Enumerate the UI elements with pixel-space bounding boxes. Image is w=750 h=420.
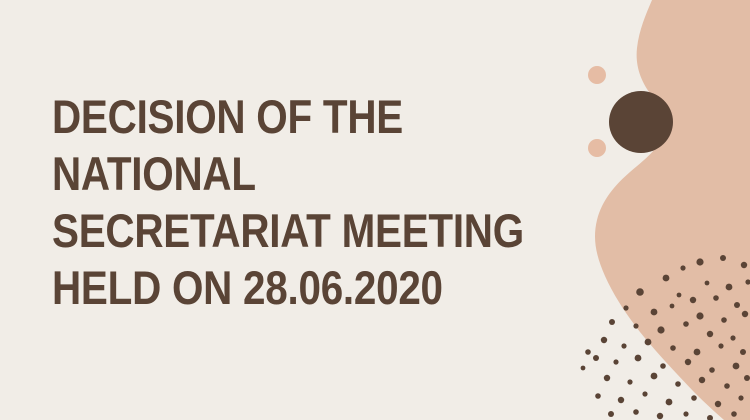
pattern-dot <box>613 359 618 364</box>
pattern-dot <box>609 319 615 325</box>
pattern-dot <box>593 355 599 361</box>
pattern-dot <box>733 363 740 370</box>
pattern-dot <box>691 395 697 401</box>
pattern-dot <box>636 288 644 296</box>
pattern-dot <box>731 411 737 417</box>
pattern-dot <box>608 411 614 417</box>
pattern-dot <box>740 349 746 355</box>
pattern-dot <box>683 321 689 327</box>
pattern-dot <box>635 355 642 362</box>
pattern-dot <box>585 349 591 355</box>
pattern-dot <box>724 383 730 389</box>
small-accent-circle-top <box>588 66 606 84</box>
headline-line-2: NATIONAL <box>52 145 534 202</box>
pattern-dot <box>595 393 601 399</box>
headline-line-1: DECISION OF THE <box>52 88 534 145</box>
pattern-dot <box>690 297 696 303</box>
headline-line-4: HELD ON 28.06.2020 <box>52 259 534 316</box>
organic-blob-shape <box>595 0 750 420</box>
pattern-dot <box>623 305 628 310</box>
pattern-dot <box>709 367 715 373</box>
pattern-dot <box>721 317 727 323</box>
pattern-dot <box>707 415 713 420</box>
pattern-dot <box>683 411 688 416</box>
pattern-dot <box>651 309 658 316</box>
page-title: DECISION OF THE NATIONAL SECRETARIAT MEE… <box>52 88 612 316</box>
pattern-dot <box>645 339 652 346</box>
pattern-dot <box>633 323 638 328</box>
large-dark-circle <box>609 91 673 153</box>
pattern-dot <box>642 391 647 396</box>
pattern-dot <box>657 413 663 419</box>
pattern-dot <box>675 381 681 387</box>
pattern-dot <box>734 302 740 308</box>
pattern-dot <box>715 401 721 407</box>
pattern-dot <box>696 258 703 265</box>
pattern-dot <box>604 375 610 381</box>
pattern-dot <box>699 377 705 383</box>
pattern-dot <box>618 397 624 403</box>
pattern-dot <box>705 281 710 286</box>
pattern-dot <box>741 262 747 268</box>
pattern-dot <box>677 293 682 298</box>
pattern-dot <box>742 311 748 317</box>
pattern-dot <box>670 345 676 351</box>
pattern-dot <box>663 275 670 282</box>
pattern-dot <box>718 343 723 348</box>
pattern-dot <box>738 395 743 400</box>
pattern-dot <box>696 312 703 319</box>
pattern-dot <box>670 304 675 309</box>
pattern-dot <box>720 255 726 261</box>
pattern-dot <box>581 366 586 371</box>
pattern-dot <box>657 326 664 333</box>
headline-line-3: SECRETARIAT MEETING <box>52 202 534 259</box>
pattern-dot <box>666 399 673 406</box>
pattern-dot <box>621 343 626 348</box>
pattern-dot <box>651 373 658 380</box>
pattern-dot <box>627 379 632 384</box>
pattern-dot <box>726 284 733 291</box>
pattern-dot <box>601 337 607 343</box>
pattern-dot <box>713 295 719 301</box>
pattern-dot <box>685 359 691 365</box>
pattern-dot <box>744 375 750 381</box>
pattern-dot <box>633 409 639 415</box>
pattern-dot <box>660 363 666 369</box>
pattern-dot <box>694 349 701 356</box>
poster-canvas: DECISION OF THE NATIONAL SECRETARIAT MEE… <box>0 0 750 420</box>
pattern-dot <box>707 331 713 337</box>
pattern-dot <box>680 265 685 270</box>
pattern-dot <box>730 335 735 340</box>
